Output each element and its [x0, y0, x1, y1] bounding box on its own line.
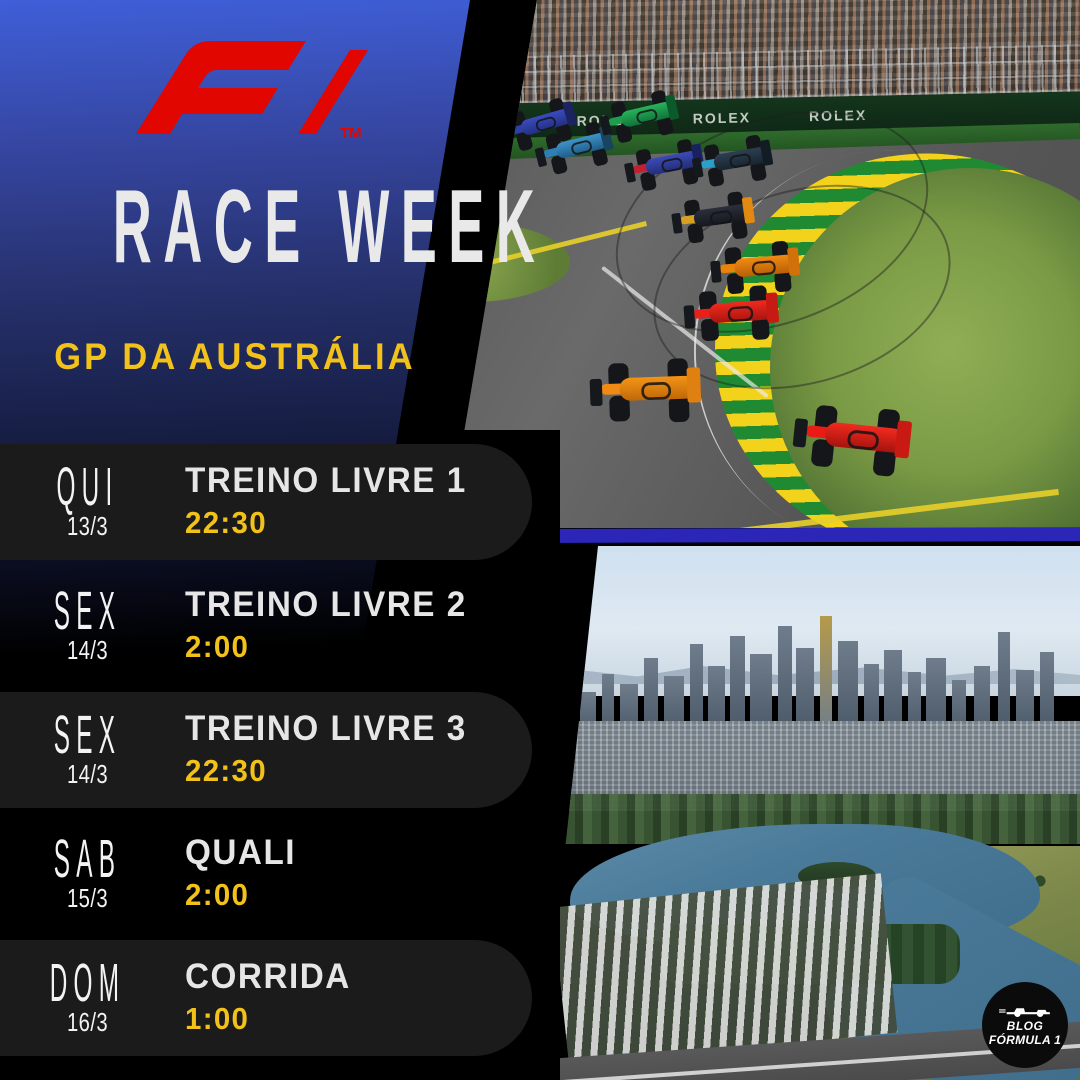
day-column: QUI 13/3	[0, 465, 185, 538]
race-week-poster: ROLEX ROLEX ROLEX ROLEX	[0, 0, 1080, 1080]
day-date: 14/3	[19, 637, 156, 663]
f1-logo-icon: TM	[100, 38, 370, 148]
event-name: QUALI	[185, 835, 541, 872]
schedule-row[interactable]: SEX 14/3 TREINO LIVRE 2 2:00	[0, 564, 560, 688]
f1-car-silhouette-icon	[998, 1003, 1052, 1019]
day-date: 13/3	[19, 513, 156, 539]
blog-watermark[interactable]: BLOG FÓRMULA 1	[982, 982, 1068, 1068]
schedule-row[interactable]: SAB 15/3 QUALI 2:00	[0, 812, 560, 936]
page-title: RACE WEEK	[113, 175, 357, 279]
event-name: TREINO LIVRE 3	[185, 711, 541, 748]
day-date: 16/3	[19, 1009, 156, 1035]
photo-divider-blue	[540, 527, 1080, 543]
grand-prix-name: GP DA AUSTRÁLIA	[16, 336, 453, 378]
event-name: TREINO LIVRE 2	[185, 587, 541, 624]
event-column: TREINO LIVRE 3 22:30	[185, 711, 560, 790]
watermark-line-2: FÓRMULA 1	[989, 1034, 1061, 1047]
event-time: 2:00	[185, 877, 541, 913]
day-abbreviation: QUI	[48, 465, 127, 509]
event-name: TREINO LIVRE 1	[185, 463, 541, 500]
day-date: 15/3	[19, 885, 156, 911]
event-column: QUALI 2:00	[185, 835, 560, 914]
schedule-row[interactable]: QUI 13/3 TREINO LIVRE 1 22:30	[0, 440, 560, 564]
day-column: SAB 15/3	[0, 837, 185, 910]
schedule-row[interactable]: DOM 16/3 CORRIDA 1:00	[0, 936, 560, 1060]
event-time: 22:30	[185, 753, 541, 789]
event-name: CORRIDA	[185, 959, 541, 996]
day-abbreviation: DOM	[48, 961, 127, 1005]
day-column: SEX 14/3	[0, 589, 185, 662]
day-abbreviation: SAB	[48, 837, 127, 881]
event-column: TREINO LIVRE 2 2:00	[185, 587, 560, 666]
day-date: 14/3	[19, 761, 156, 787]
day-column: SEX 14/3	[0, 713, 185, 786]
schedule-row[interactable]: SEX 14/3 TREINO LIVRE 3 22:30	[0, 688, 560, 812]
event-time: 22:30	[185, 505, 541, 541]
schedule-list: QUI 13/3 TREINO LIVRE 1 22:30 SEX 14/3 T…	[0, 440, 560, 1060]
banner-sponsor-text: ROLEX	[460, 114, 519, 131]
event-column: CORRIDA 1:00	[185, 959, 560, 1038]
event-column: TREINO LIVRE 1 22:30	[185, 463, 560, 542]
watermark-line-1: BLOG	[1007, 1020, 1044, 1033]
melbourne-skyline	[540, 606, 1080, 736]
svg-text:TM: TM	[340, 125, 362, 142]
event-time: 1:00	[185, 1001, 541, 1037]
day-column: DOM 16/3	[0, 961, 185, 1034]
day-abbreviation: SEX	[48, 713, 127, 757]
day-abbreviation: SEX	[48, 589, 127, 633]
event-time: 2:00	[185, 629, 541, 665]
